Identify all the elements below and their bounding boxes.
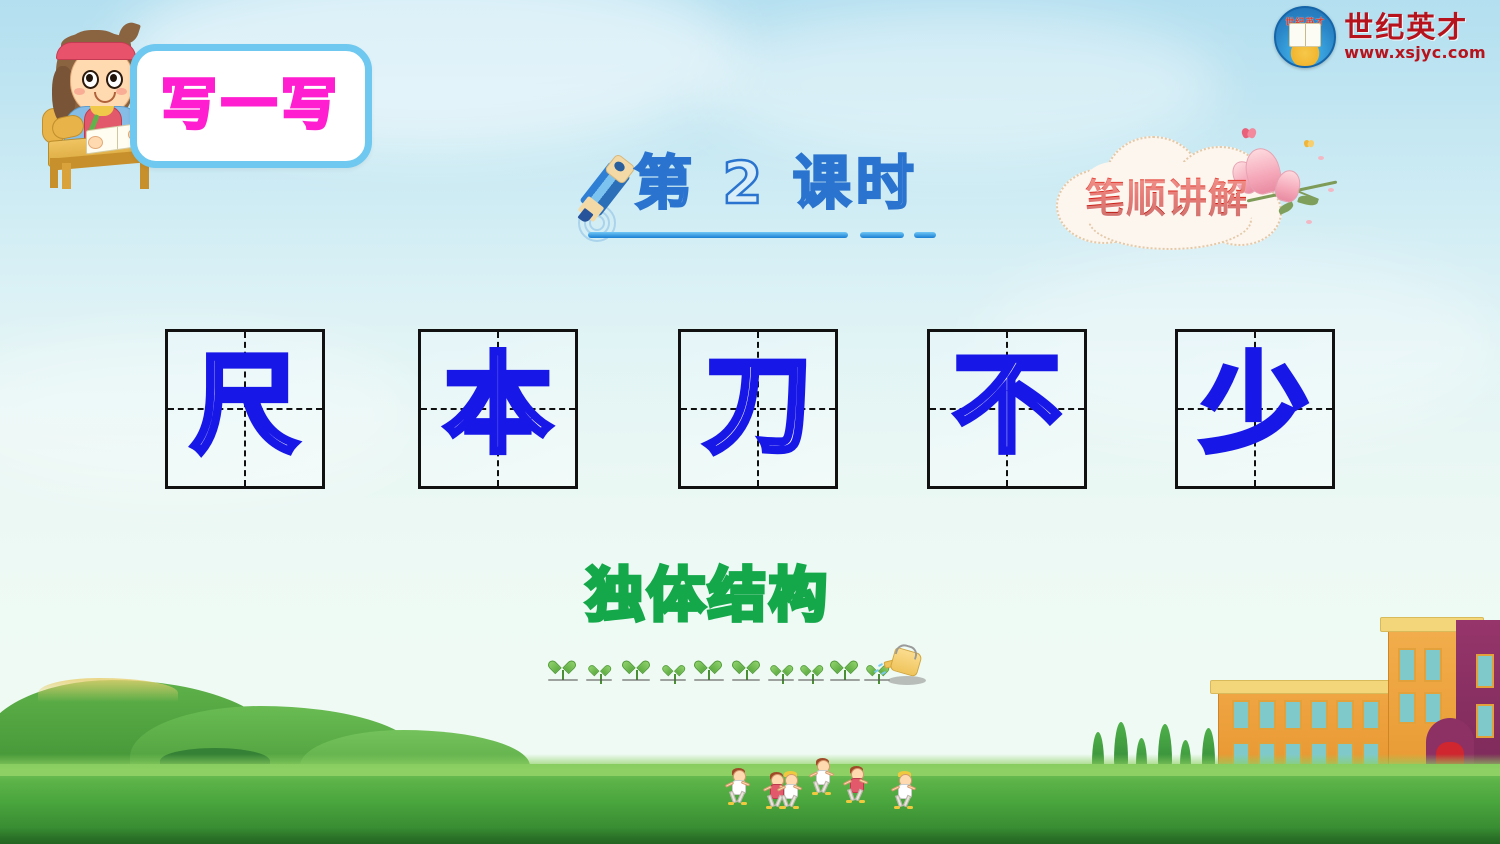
character-glyph: 刀 [681, 332, 835, 486]
falling-petal [1318, 156, 1324, 160]
school-window [1398, 648, 1416, 682]
lesson-title-text: 第 2 课时 [634, 152, 919, 216]
school-window [1336, 700, 1354, 730]
school-window [1424, 648, 1442, 682]
sprout-row-decoration [548, 648, 928, 682]
running-child [728, 770, 748, 804]
running-child [780, 774, 800, 808]
school-window [1476, 654, 1494, 688]
character-cell[interactable]: 本 [418, 329, 578, 489]
character-cell[interactable]: 尺 [165, 329, 325, 489]
structure-label-group: 独体结构 [586, 566, 916, 676]
character-cell[interactable]: 刀 [678, 329, 838, 489]
stroke-order-label: 笔顺讲解 [1052, 166, 1282, 224]
hand-left [88, 136, 103, 149]
school-window [1362, 700, 1380, 730]
character-cell[interactable]: 少 [1175, 329, 1335, 489]
school-window [1398, 692, 1416, 724]
structure-label: 独体结构 [586, 566, 916, 624]
running-children-illustration [728, 760, 918, 808]
character-glyph: 本 [421, 332, 575, 486]
write-activity-label: 写一写 [161, 78, 341, 134]
character-cell[interactable]: 不 [927, 329, 1087, 489]
grass-shadow-band [0, 828, 1500, 844]
headband-shape [56, 42, 136, 60]
logo-website-url: www.xsjyc.com [1344, 45, 1486, 61]
character-glyph: 尺 [168, 332, 322, 486]
falling-petal [1328, 188, 1334, 192]
running-child [846, 768, 866, 802]
school-window [1232, 700, 1250, 730]
desk-leg [62, 163, 71, 189]
pupil-left [86, 74, 93, 82]
character-glyph: 不 [930, 332, 1084, 486]
underline-segment [914, 232, 936, 238]
running-child [894, 774, 914, 808]
underline-segment [860, 232, 904, 238]
sprout-icon [775, 663, 786, 673]
pupil-right [110, 74, 117, 82]
pencil-icon [578, 160, 642, 234]
stroke-order-badge[interactable]: 笔顺讲解 [1052, 132, 1282, 250]
character-practice-grid: 尺 本 刀 不 少 [165, 329, 1335, 491]
falling-petal [1306, 220, 1312, 224]
lesson-title-underline [588, 232, 938, 240]
school-window [1284, 700, 1302, 730]
brand-logo: 世纪英才 世纪英才 www.xsjyc.com [1274, 6, 1486, 68]
logo-emblem-icon: 世纪英才 [1274, 6, 1336, 68]
lesson-title-group: 第 2 课时 [578, 152, 938, 248]
running-child [812, 760, 832, 794]
sprout-icon [805, 663, 816, 673]
sprout-icon [593, 663, 604, 673]
branch-leaf [1297, 193, 1319, 207]
watering-can-shadow [888, 676, 926, 685]
cheek-left [74, 88, 85, 95]
cheek-right [116, 88, 127, 95]
water-drop [881, 671, 886, 675]
watering-can-icon [884, 646, 926, 684]
sprout-icon [667, 663, 678, 673]
slide-canvas: 世纪英才 世纪英才 www.xsjyc.com [0, 0, 1500, 844]
logo-company-name: 世纪英才 [1344, 13, 1486, 42]
chair-leg [50, 158, 58, 188]
school-window [1476, 704, 1494, 738]
write-activity-badge[interactable]: 写一写 [130, 44, 372, 168]
logo-text-group: 世纪英才 www.xsjyc.com [1344, 13, 1486, 61]
open-book-icon [1289, 23, 1321, 47]
school-window [1310, 700, 1328, 730]
underline-segment [588, 232, 848, 238]
character-glyph: 少 [1178, 332, 1332, 486]
school-window [1258, 700, 1276, 730]
butterfly-pink-icon [1242, 128, 1256, 140]
butterfly-yellow-icon [1304, 140, 1314, 149]
